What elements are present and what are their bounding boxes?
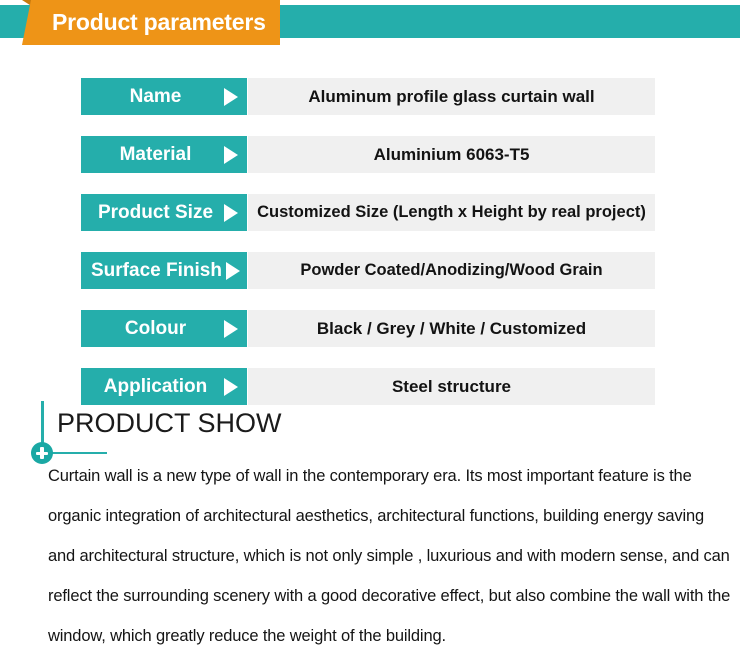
table-row: Material Aluminium 6063-T5: [0, 128, 740, 186]
plus-icon-vertical-stroke: [40, 447, 44, 459]
param-label-surface-finish: Surface Finish: [81, 252, 247, 289]
triangle-right-icon: [224, 320, 238, 338]
param-value-text: Steel structure: [392, 377, 511, 397]
triangle-right-icon: [226, 262, 240, 280]
param-value-cell: Aluminum profile glass curtain wall: [248, 78, 655, 115]
param-value-cell: Aluminium 6063-T5: [248, 136, 655, 173]
triangle-right-icon: [224, 146, 238, 164]
param-value-text: Aluminium 6063-T5: [374, 145, 530, 165]
param-value-text: Powder Coated/Anodizing/Wood Grain: [300, 261, 602, 280]
header-orange-ribbon: Product parameters: [22, 0, 280, 45]
table-row: Name Aluminum profile glass curtain wall: [0, 70, 740, 128]
product-parameters-table: Name Aluminum profile glass curtain wall…: [0, 70, 740, 418]
param-value-cell: Steel structure: [248, 368, 655, 405]
param-value-text: Aluminum profile glass curtain wall: [308, 87, 594, 107]
triangle-right-icon: [224, 88, 238, 106]
triangle-right-icon: [224, 378, 238, 396]
section-paragraph: Curtain wall is a new type of wall in th…: [48, 456, 732, 656]
param-label-name: Name: [81, 78, 247, 115]
param-value-text: Black / Grey / White / Customized: [317, 319, 586, 339]
section-heading: PRODUCT SHOW: [57, 408, 282, 439]
page-header-banner: Product parameters: [0, 0, 740, 58]
param-label-text: Surface Finish: [91, 260, 222, 282]
param-value-text: Customized Size (Length x Height by real…: [257, 203, 646, 222]
param-value-cell: Customized Size (Length x Height by real…: [248, 194, 655, 231]
triangle-right-icon: [224, 204, 238, 222]
table-row: Surface Finish Powder Coated/Anodizing/W…: [0, 244, 740, 302]
param-value-cell: Black / Grey / White / Customized: [248, 310, 655, 347]
param-label-product-size: Product Size: [81, 194, 247, 231]
param-label-colour: Colour: [81, 310, 247, 347]
param-value-cell: Powder Coated/Anodizing/Wood Grain: [248, 252, 655, 289]
table-row: Colour Black / Grey / White / Customized: [0, 302, 740, 360]
param-label-text: Material: [91, 144, 220, 166]
param-label-text: Application: [91, 376, 220, 398]
param-label-application: Application: [81, 368, 247, 405]
param-label-text: Product Size: [91, 202, 220, 224]
param-label-text: Colour: [91, 318, 220, 340]
param-label-material: Material: [81, 136, 247, 173]
page-title: Product parameters: [52, 9, 266, 36]
param-label-text: Name: [91, 86, 220, 108]
table-row: Product Size Customized Size (Length x H…: [0, 186, 740, 244]
